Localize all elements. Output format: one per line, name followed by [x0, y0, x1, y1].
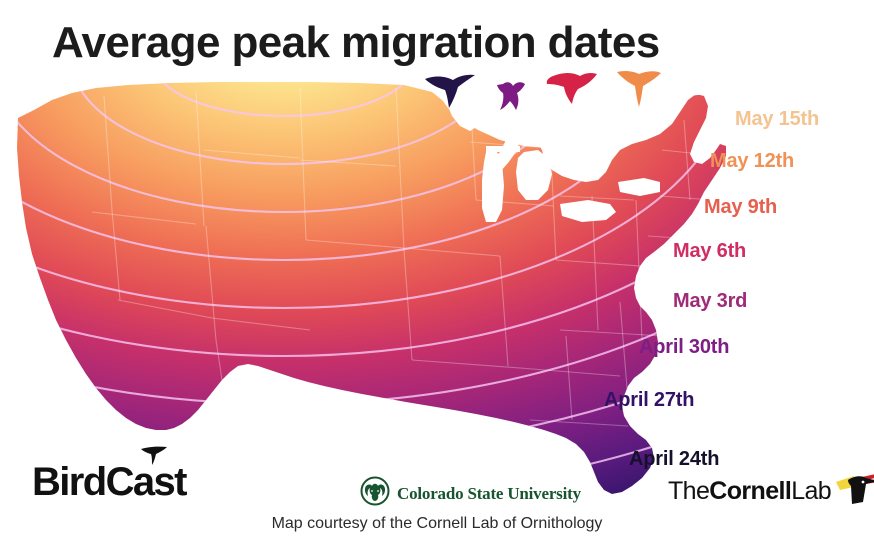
date-label-may-12: May 12th [710, 150, 794, 173]
migration-map-poster: Average peak migration dates [0, 0, 874, 551]
map-caption: Map courtesy of the Cornell Lab of Ornit… [0, 515, 874, 533]
birdcast-bird-icon [140, 446, 172, 471]
cornell-prefix: The [668, 477, 709, 505]
cornell-bold: Cornell [709, 477, 791, 505]
date-label-may-3: May 3rd [673, 290, 747, 313]
bird-silhouette-navy-icon [423, 70, 477, 115]
bird-silhouette-orange-icon [615, 68, 663, 113]
date-label-april-24: April 24th [629, 448, 719, 471]
page-title: Average peak migration dates [52, 18, 660, 68]
bird-silhouette-purple-icon [495, 80, 533, 121]
cornell-lab-wordmark: TheCornellLab [668, 479, 831, 504]
date-label-april-27: April 27th [604, 389, 694, 412]
bird-silhouette-crimson-icon [545, 70, 599, 111]
date-label-may-6: May 6th [673, 240, 746, 263]
birdcast-logo: BirdCast [32, 462, 186, 502]
cornell-woodpecker-icon [834, 472, 874, 511]
date-label-april-30: April 30th [639, 336, 729, 359]
date-label-may-15: May 15th [735, 108, 819, 131]
cornell-lab-logo: TheCornellLab [668, 472, 874, 511]
date-label-may-9: May 9th [704, 196, 777, 219]
label-gutter [730, 86, 874, 506]
colorado-state-university-logo: Colorado State University [360, 476, 581, 511]
csu-ram-icon [360, 476, 390, 511]
cornell-suffix: Lab [791, 477, 831, 505]
csu-wordmark: Colorado State University [397, 484, 581, 504]
